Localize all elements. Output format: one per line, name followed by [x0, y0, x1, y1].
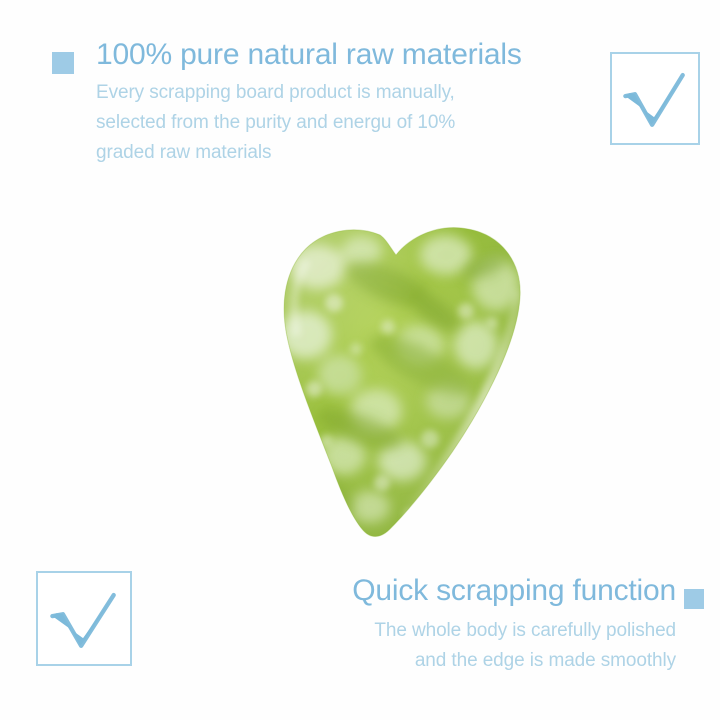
feature-top-headline: 100% pure natural raw materials	[96, 36, 596, 74]
feature-bottom-text: Quick scrapping function The whole body …	[280, 572, 676, 676]
gua-sha-illustration	[270, 215, 532, 545]
feature-top-line-2: selected from the purity and energu of 1…	[96, 108, 596, 138]
feature-top-line-1: Every scrapping board product is manuall…	[96, 78, 596, 108]
feature-bottom-description: The whole body is carefully polished and…	[280, 616, 676, 676]
square-bullet-icon	[684, 589, 704, 609]
feature-bottom-line-2: and the edge is made smoothly	[280, 646, 676, 676]
feature-bottom-line-1: The whole body is carefully polished	[280, 616, 676, 646]
check-icon	[38, 573, 130, 664]
product-feature-image: 100% pure natural raw materials Every sc…	[0, 0, 720, 720]
feature-bottom-headline: Quick scrapping function	[280, 572, 676, 610]
square-bullet-icon	[52, 52, 74, 74]
feature-top-text: 100% pure natural raw materials Every sc…	[96, 36, 596, 168]
check-icon	[612, 54, 698, 143]
checkbox-top-right	[610, 52, 700, 145]
feature-top-line-3: graded raw materials	[96, 138, 596, 168]
jade-gua-sha-stone-image	[270, 215, 532, 545]
feature-top-description: Every scrapping board product is manuall…	[96, 78, 596, 168]
checkbox-bottom-left	[36, 571, 132, 666]
